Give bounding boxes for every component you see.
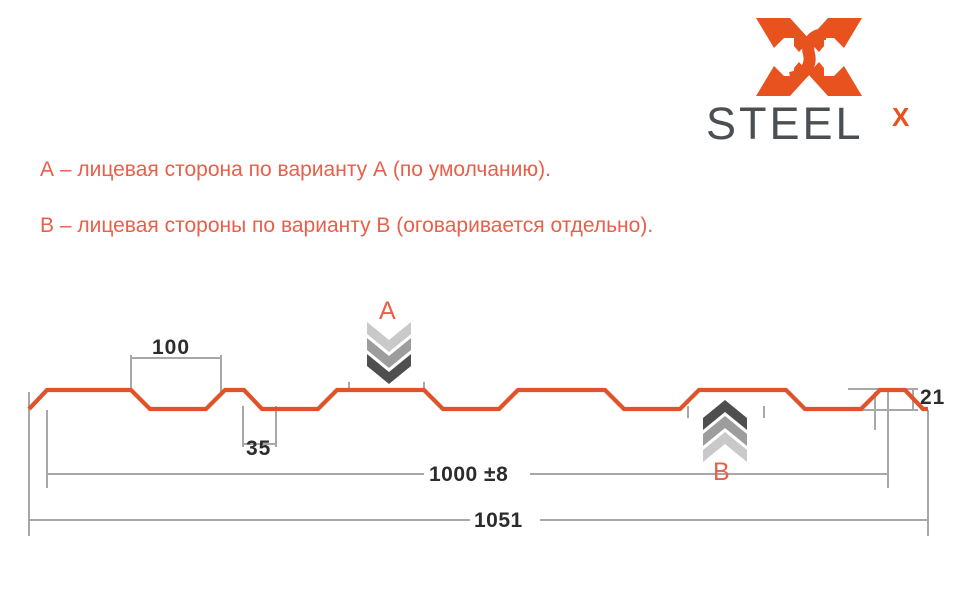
marker-label-b: В — [713, 458, 730, 487]
dimension-label-valley-width: 35 — [246, 437, 271, 461]
dimension-label-height: 21 — [920, 386, 945, 410]
marker-label-a: А — [379, 297, 396, 326]
dimension-label-working-width: 1000 ±8 — [429, 463, 508, 487]
dimension-label-overall-width: 1051 — [474, 509, 523, 533]
corrugated-profile-polyline — [29, 390, 928, 409]
dimension-label-pitch: 100 — [152, 336, 190, 360]
wordmark-superscript: X — [892, 102, 910, 132]
caption-variant-b: В – лицевая стороны по варианту В (огова… — [40, 214, 653, 238]
wordmark-text: STEEL — [706, 102, 864, 148]
caption-variant-a: А – лицевая сторона по варианту А (по ум… — [40, 158, 551, 182]
steelx-x-logo-icon — [754, 14, 864, 100]
marker-a-chevrons — [367, 322, 411, 384]
brand-logo: STEEL X — [706, 14, 942, 146]
marker-b-chevrons — [703, 400, 747, 462]
steelx-wordmark: STEEL X — [706, 102, 942, 148]
